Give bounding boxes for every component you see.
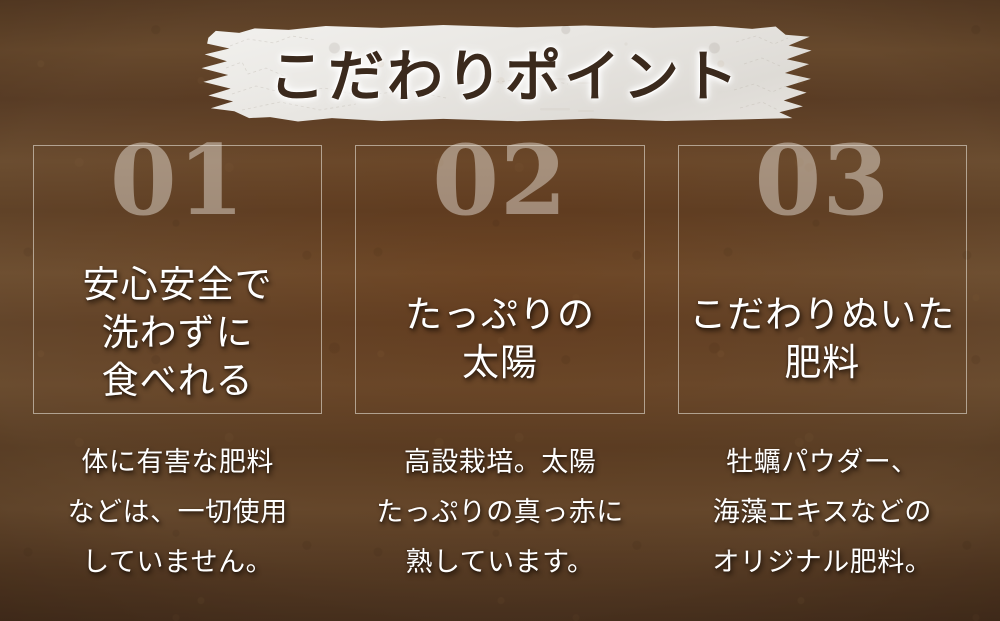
card-heading-line: 肥料 <box>784 341 860 384</box>
card-heading-line: 太陽 <box>462 341 538 384</box>
card-description-03: 牡蠣パウダー、 海藻エキスなどの オリジナル肥料。 <box>678 438 967 588</box>
description-line: オリジナル肥料。 <box>678 538 967 588</box>
card-heading-01: 安心安全で 洗わずに 食べれる <box>34 261 321 405</box>
description-row: 体に有害な肥料 などは、一切使用 していません。 高設栽培。太陽 たっぷりの真っ… <box>33 438 967 588</box>
feature-card-02[interactable]: 02 たっぷりの 太陽 <box>355 145 644 414</box>
card-heading-03: こだわりぬいた 肥料 <box>679 291 966 387</box>
header-banner: こだわりポイント <box>196 24 814 122</box>
description-line: していません。 <box>33 538 322 588</box>
card-heading-line: 安心安全で <box>83 263 273 306</box>
card-number-02: 02 <box>356 133 643 229</box>
card-heading-line: たっぷりの <box>405 293 595 336</box>
page-root: こだわりポイント 01 安心安全で 洗わずに 食べれる 02 たっぷりの 太陽 … <box>0 0 1000 621</box>
card-heading-line: 食べれる <box>102 359 254 402</box>
description-line: たっぷりの真っ赤に <box>355 488 644 538</box>
card-number-01: 01 <box>34 133 321 229</box>
description-line: 牡蠣パウダー、 <box>678 438 967 488</box>
card-heading-02: たっぷりの 太陽 <box>356 291 643 387</box>
page-title: こだわりポイント <box>196 24 814 122</box>
description-line: などは、一切使用 <box>33 488 322 538</box>
card-heading-line: 洗わずに <box>102 311 254 354</box>
feature-card-row: 01 安心安全で 洗わずに 食べれる 02 たっぷりの 太陽 03 こだわりぬい… <box>33 145 967 414</box>
description-line: 高設栽培。太陽 <box>355 438 644 488</box>
description-line: 熟しています。 <box>355 538 644 588</box>
card-heading-line: こだわりぬいた <box>689 293 955 336</box>
feature-card-03[interactable]: 03 こだわりぬいた 肥料 <box>678 145 967 414</box>
feature-card-01[interactable]: 01 安心安全で 洗わずに 食べれる <box>33 145 322 414</box>
card-description-02: 高設栽培。太陽 たっぷりの真っ赤に 熟しています。 <box>355 438 644 588</box>
description-line: 海藻エキスなどの <box>678 488 967 538</box>
description-line: 体に有害な肥料 <box>33 438 322 488</box>
card-description-01: 体に有害な肥料 などは、一切使用 していません。 <box>33 438 322 588</box>
card-number-03: 03 <box>679 133 966 229</box>
